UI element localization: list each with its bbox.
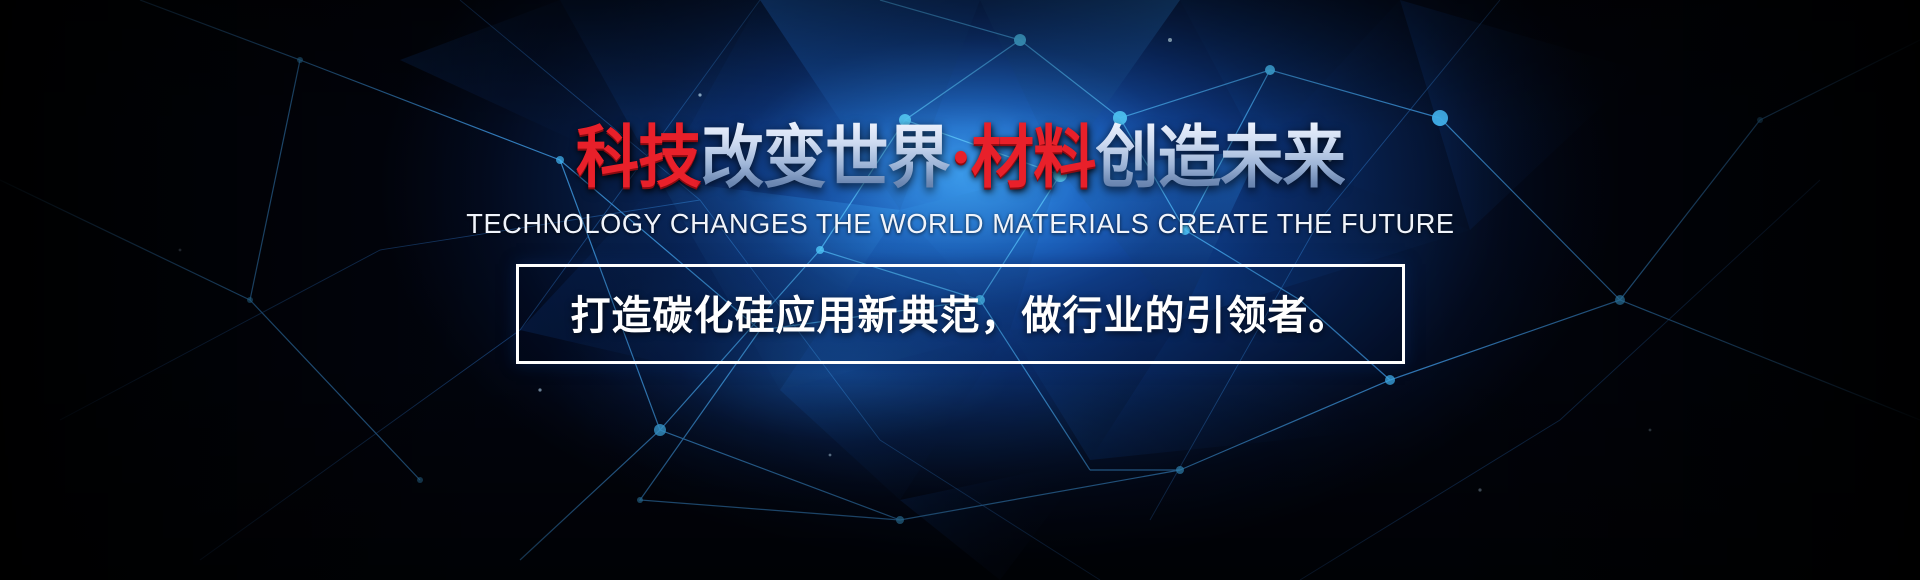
headline-part-technology: 科技 [576, 118, 701, 198]
banner-content: 科技改变世界·材料创造未来 TECHNOLOGY CHANGES THE WOR… [0, 0, 1920, 580]
slogan-box: 打造碳化硅应用新典范，做行业的引领者。 [516, 264, 1405, 364]
headline-part-create-future: 创造未来 [1095, 118, 1344, 198]
slogan-text: 打造碳化硅应用新典范，做行业的引领者。 [571, 283, 1350, 341]
headline-part-changes-world: 改变世界 [700, 118, 949, 198]
page-title: 科技改变世界·材料创造未来 [576, 124, 1345, 192]
page-subtitle: TECHNOLOGY CHANGES THE WORLD MATERIALS C… [466, 208, 1454, 240]
headline-part-materials: 材料 [971, 118, 1096, 198]
headline-separator-dot: · [949, 118, 970, 198]
hero-banner: 科技改变世界·材料创造未来 TECHNOLOGY CHANGES THE WOR… [0, 0, 1920, 580]
